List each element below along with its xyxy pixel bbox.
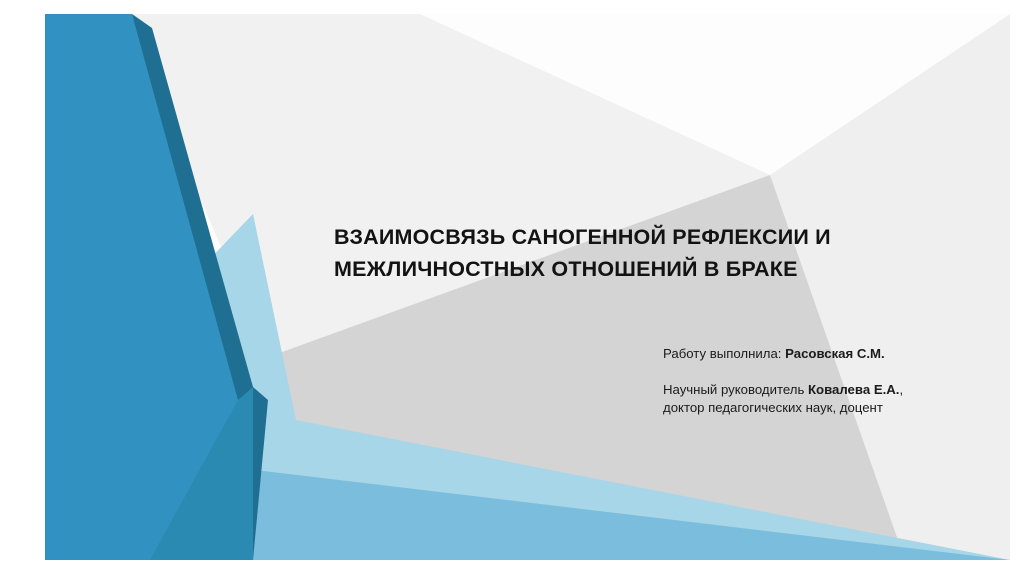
- author-name: Расовская С.М.: [785, 346, 885, 361]
- supervisor-suffix: ,: [899, 382, 903, 397]
- supervisor-name: Ковалева Е.А.: [808, 382, 900, 397]
- author-line: Работу выполнила: Расовская С.М.: [663, 345, 993, 364]
- slide-text-layer: ВЗАИМОСВЯЗЬ САНОГЕННОЙ РЕФЛЕКСИИ И МЕЖЛИ…: [0, 0, 1024, 574]
- page-title: ВЗАИМОСВЯЗЬ САНОГЕННОЙ РЕФЛЕКСИИ И МЕЖЛИ…: [334, 222, 944, 286]
- author-label: Работу выполнила:: [663, 346, 785, 361]
- title-block: ВЗАИМОСВЯЗЬ САНОГЕННОЙ РЕФЛЕКСИИ И МЕЖЛИ…: [334, 222, 944, 286]
- supervisor-line: Научный руководитель Ковалева Е.А.,докто…: [663, 381, 993, 418]
- supervisor-label: Научный руководитель: [663, 382, 808, 397]
- supervisor-degree: доктор педагогических наук, доцент: [663, 400, 883, 415]
- title-slide: ВЗАИМОСВЯЗЬ САНОГЕННОЙ РЕФЛЕКСИИ И МЕЖЛИ…: [0, 0, 1024, 574]
- credits-block: Работу выполнила: Расовская С.М. Научный…: [663, 345, 993, 418]
